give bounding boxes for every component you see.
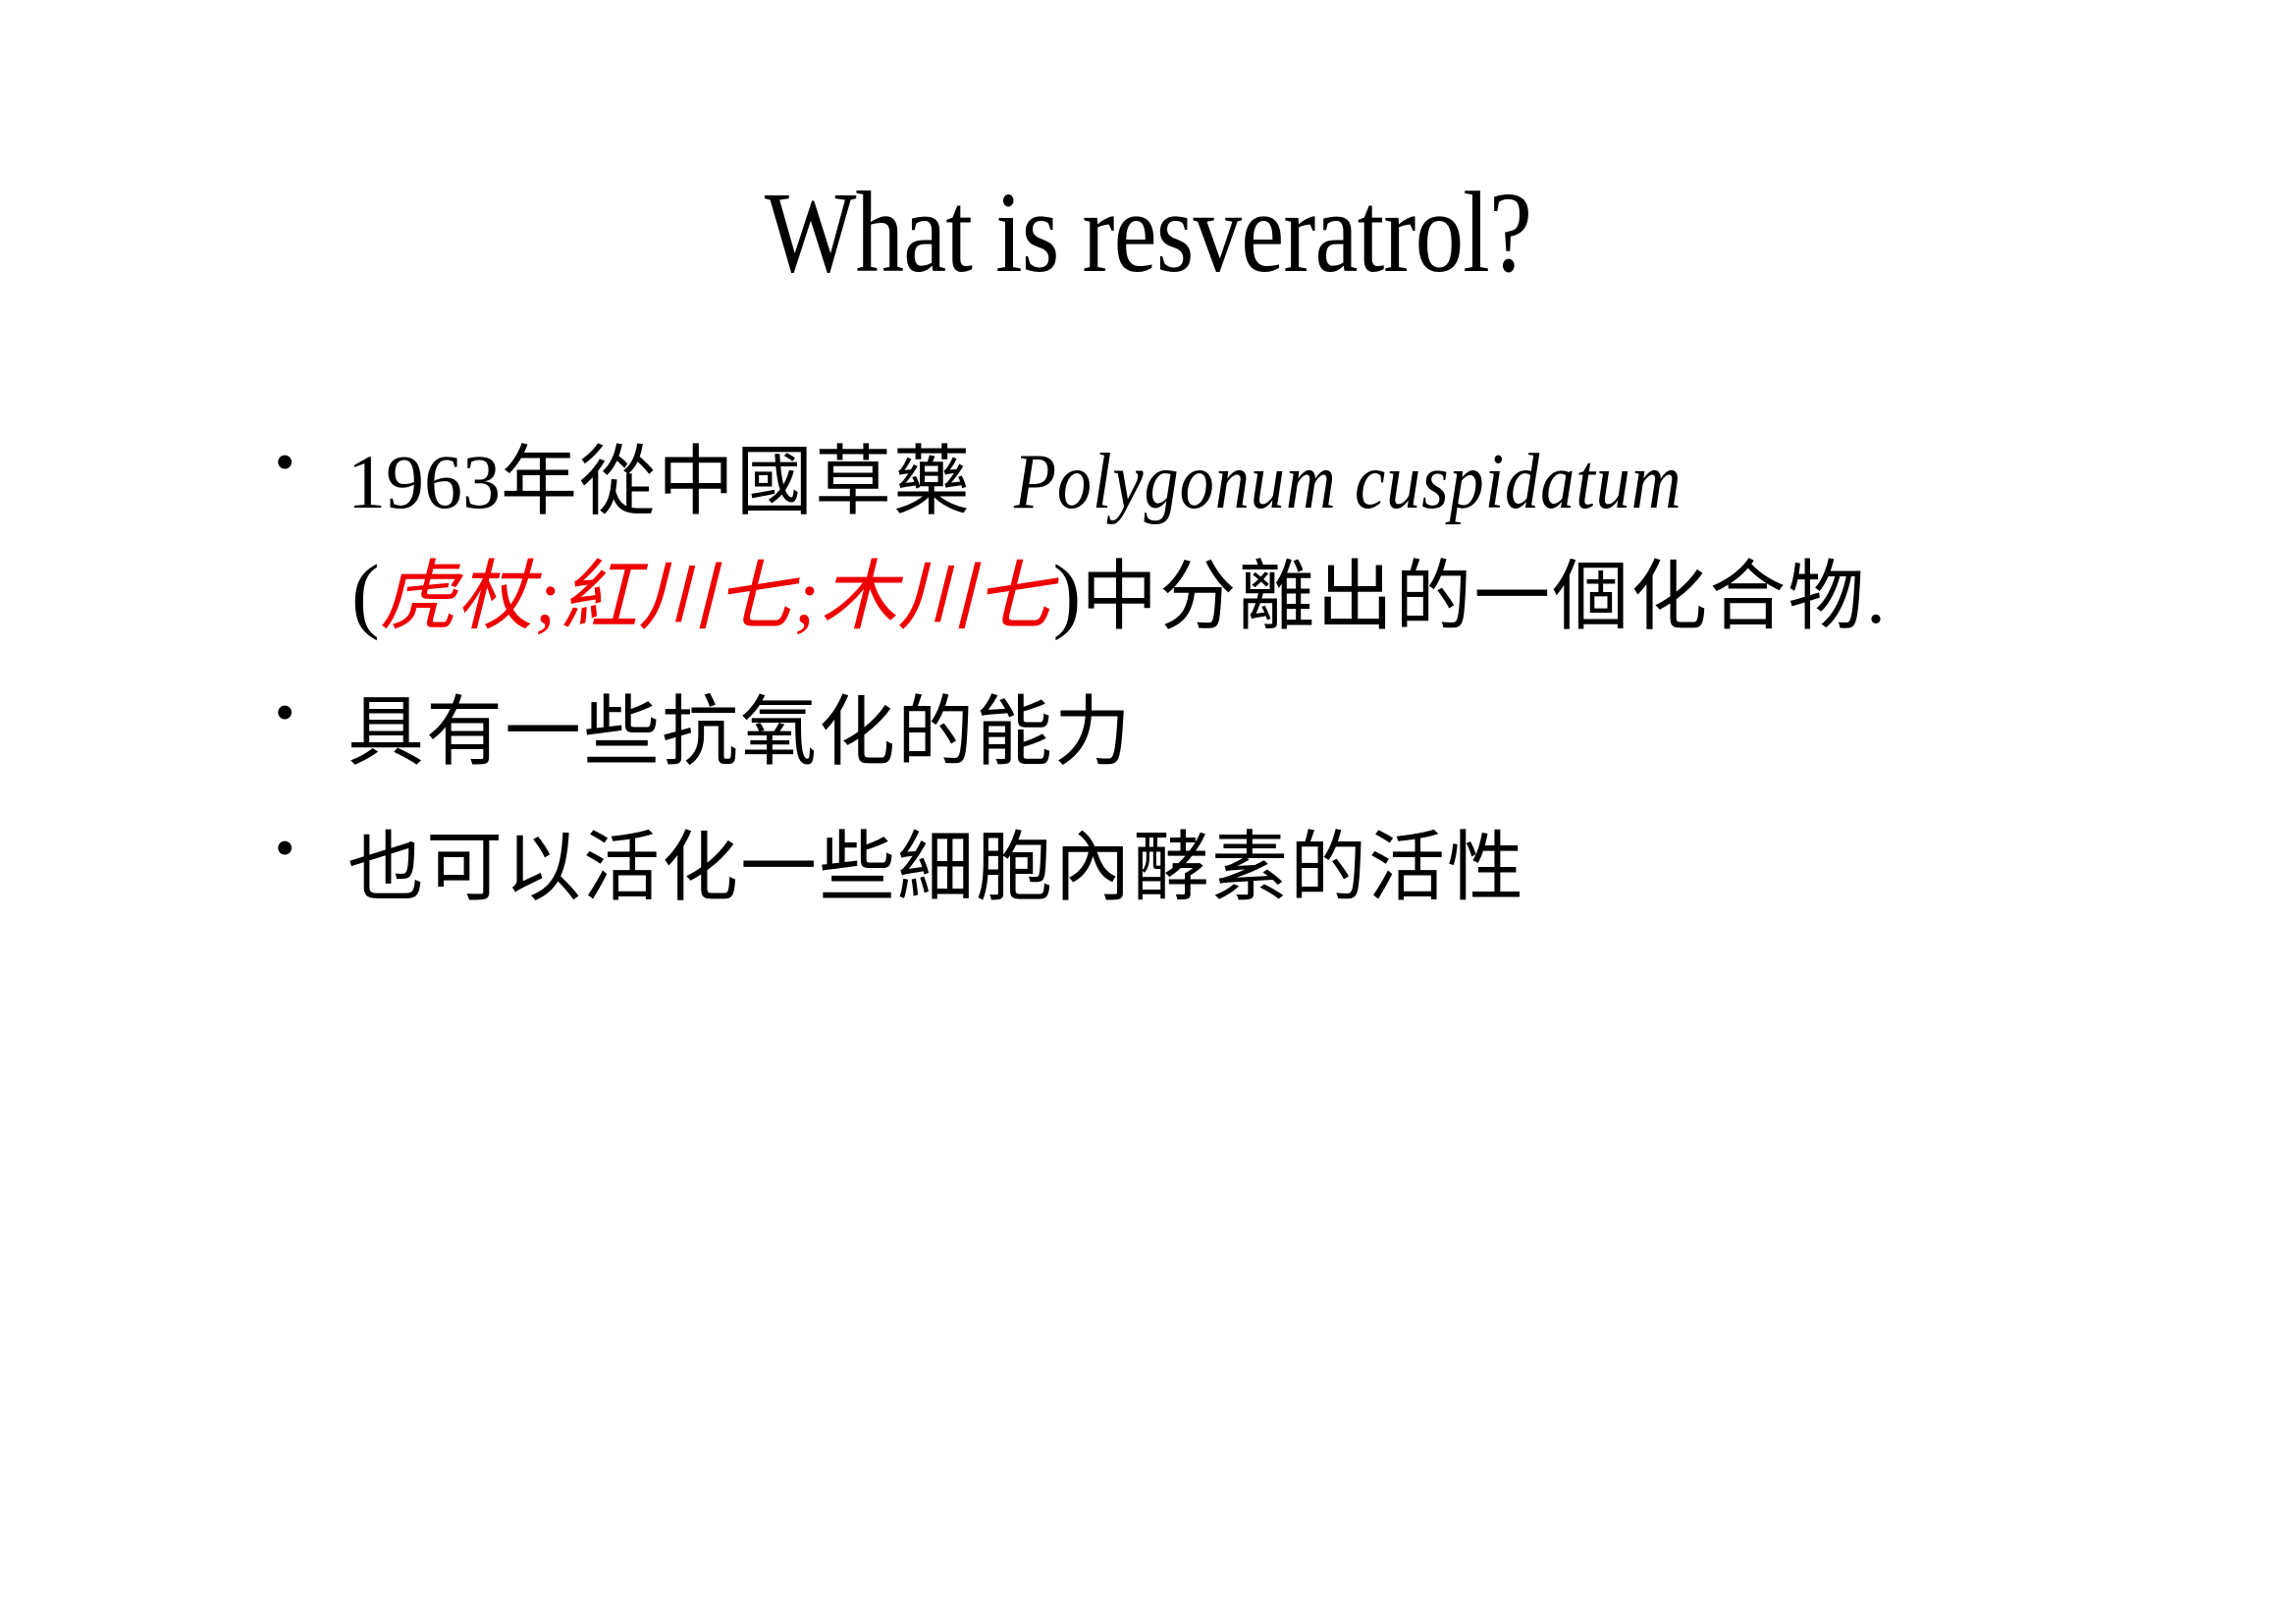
- bullet-1-line-1: 1963年從中國草藥 Polygonum cuspidatum: [347, 426, 2220, 538]
- list-item: • 具有一些抗氧化的能力: [267, 673, 2220, 788]
- bullet-dot-icon: •: [267, 422, 347, 503]
- chinese-herb-aliases: 虎杖;紅川七;木川七: [380, 554, 1053, 639]
- close-paren: ): [1053, 547, 1082, 641]
- slide-canvas: What is resveratrol? • 1963年從中國草藥 Polygo…: [0, 0, 2296, 1623]
- spacer: [972, 439, 1014, 524]
- list-item-text: 也可以活化一些細胞內酵素的活性: [347, 808, 2220, 924]
- bullet-1-line-2: (虎杖;紅川七;木川七)中分離出的一個化合物.: [347, 538, 2220, 653]
- bullet-1-cjk-text: 年從中國草藥: [501, 439, 972, 524]
- bullet-3-text: 也可以活化一些細胞內酵素的活性: [347, 812, 2220, 924]
- species-name: Polygonum cuspidatum: [1014, 426, 1682, 538]
- list-item: • 1963年從中國草藥 Polygonum cuspidatum (虎杖;紅川…: [267, 422, 2220, 653]
- bullet-list: • 1963年從中國草藥 Polygonum cuspidatum (虎杖;紅川…: [267, 422, 2220, 924]
- list-item-text: 1963年從中國草藥 Polygonum cuspidatum (虎杖;紅川七;…: [347, 422, 2220, 653]
- bullet-dot-icon: •: [267, 808, 347, 889]
- bullet-2-text: 具有一些抗氧化的能力: [347, 676, 2220, 788]
- page-title: What is resveratrol?: [184, 175, 2112, 291]
- list-item: • 也可以活化一些細胞內酵素的活性: [267, 808, 2220, 924]
- bullet-1-line-2-tail: 中分離出的一個化合物.: [1081, 554, 1888, 639]
- list-item-text: 具有一些抗氧化的能力: [347, 673, 2220, 788]
- year-number: 1963: [347, 439, 501, 524]
- bullet-dot-icon: •: [267, 673, 347, 753]
- open-paren: (: [351, 547, 380, 641]
